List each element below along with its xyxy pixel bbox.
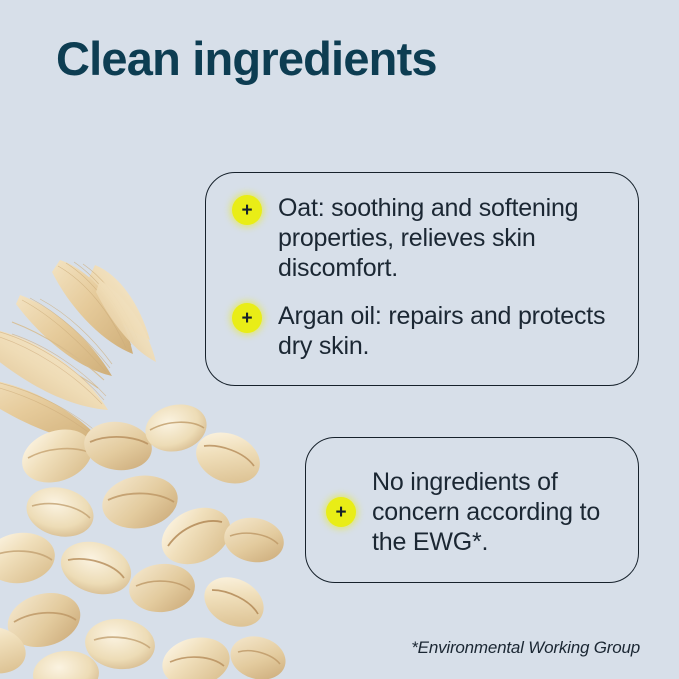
plus-icon: + <box>326 497 356 527</box>
ewg-card: + No ingredients of concern according to… <box>305 437 639 583</box>
list-item: + Argan oil: repairs and protects dry sk… <box>232 301 622 361</box>
list-item: + Oat: soothing and softening properties… <box>232 193 622 283</box>
list-item-label: No ingredients of concern according to t… <box>372 467 626 557</box>
ingredients-card: + Oat: soothing and softening properties… <box>205 172 639 386</box>
plus-icon: + <box>232 195 262 225</box>
list-item-label: Argan oil: repairs and protects dry skin… <box>278 301 622 361</box>
list-item-label: Oat: soothing and softening properties, … <box>278 193 622 283</box>
promo-panel: Clean ingredients + Oat: soothing and so… <box>0 0 679 679</box>
page-title: Clean ingredients <box>56 31 437 87</box>
plus-icon: + <box>232 303 262 333</box>
list-item: + No ingredients of concern according to… <box>326 460 626 564</box>
footnote: *Environmental Working Group <box>411 638 640 658</box>
